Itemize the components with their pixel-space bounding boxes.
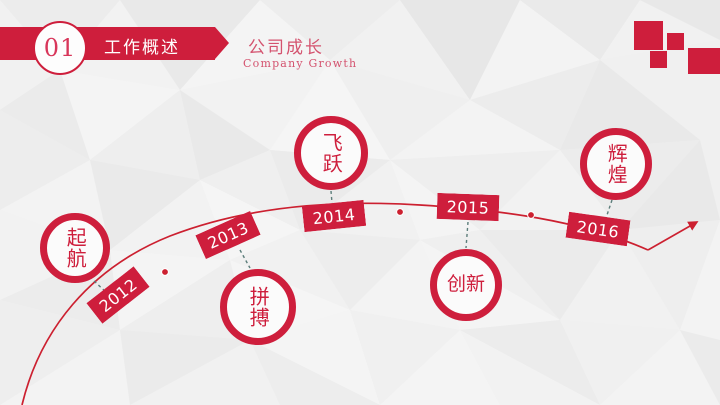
ribbon-arrow-point [215,27,229,59]
milestone-label-2013: 拼搏 [248,286,268,328]
milestone-circle-2016[interactable]: 辉煌 [580,128,652,200]
timeline-arrow-tail [648,222,697,250]
slide-canvas: 01 工作概述 公司成长 Company Growth 起航2012拼搏2013… [0,0,720,405]
square-small-lower [650,51,667,68]
section-number-badge: 01 [33,21,87,75]
square-small-mid [667,33,684,50]
milestone-label-2012: 起航 [65,227,85,269]
year-tag-2015[interactable]: 2015 [437,193,500,221]
milestone-label-2015: 创新 [447,275,485,294]
milestone-label-2016: 辉煌 [606,143,626,185]
section-number: 01 [44,36,77,60]
milestone-label-2014: 飞跃 [321,132,341,174]
milestone-circle-2013[interactable]: 拼搏 [220,269,296,345]
milestone-circle-2015[interactable]: 创新 [430,249,502,321]
milestone-circle-2014[interactable]: 飞跃 [294,116,368,190]
section-label: 工作概述 [104,33,180,58]
milestone-circle-2012[interactable]: 起航 [40,213,110,283]
page-title-en: Company Growth [243,57,357,70]
square-large-left [634,21,663,50]
page-title-cn: 公司成长 [248,33,324,58]
square-large-right [688,48,720,74]
